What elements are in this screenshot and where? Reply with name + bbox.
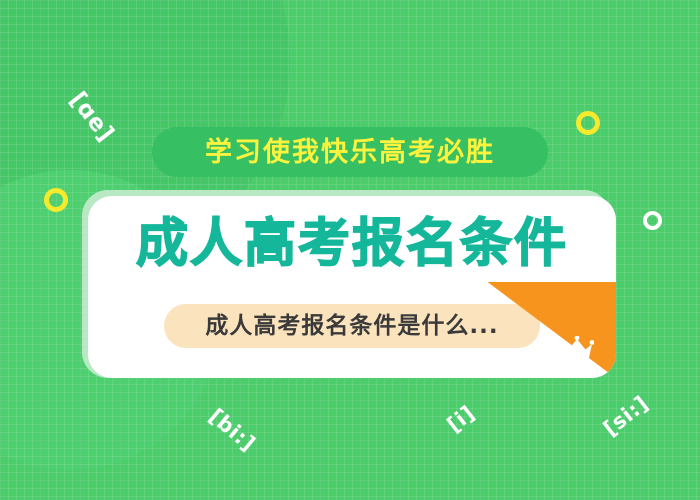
- subtitle-pill: 成人高考报名条件是什么...: [164, 304, 540, 348]
- corner-wedge: [488, 282, 616, 378]
- decor-ring-white-right: [643, 211, 662, 230]
- poster-canvas: [ɑe] [bi:] [i] [si:] 学习使我快乐高考必胜 成人高考报名条件…: [0, 0, 700, 500]
- decor-ring-yellow-left: [44, 188, 68, 212]
- page-title: 成人高考报名条件: [88, 218, 616, 270]
- top-banner-text: 学习使我快乐高考必胜: [205, 139, 495, 166]
- top-banner: 学习使我快乐高考必胜: [152, 127, 548, 177]
- decor-ring-yellow-right: [576, 111, 600, 135]
- main-card: 成人高考报名条件 成人高考报名条件是什么...: [88, 196, 616, 378]
- subtitle-text: 成人高考报名条件是什么...: [205, 315, 498, 338]
- crown-icon: [560, 336, 594, 362]
